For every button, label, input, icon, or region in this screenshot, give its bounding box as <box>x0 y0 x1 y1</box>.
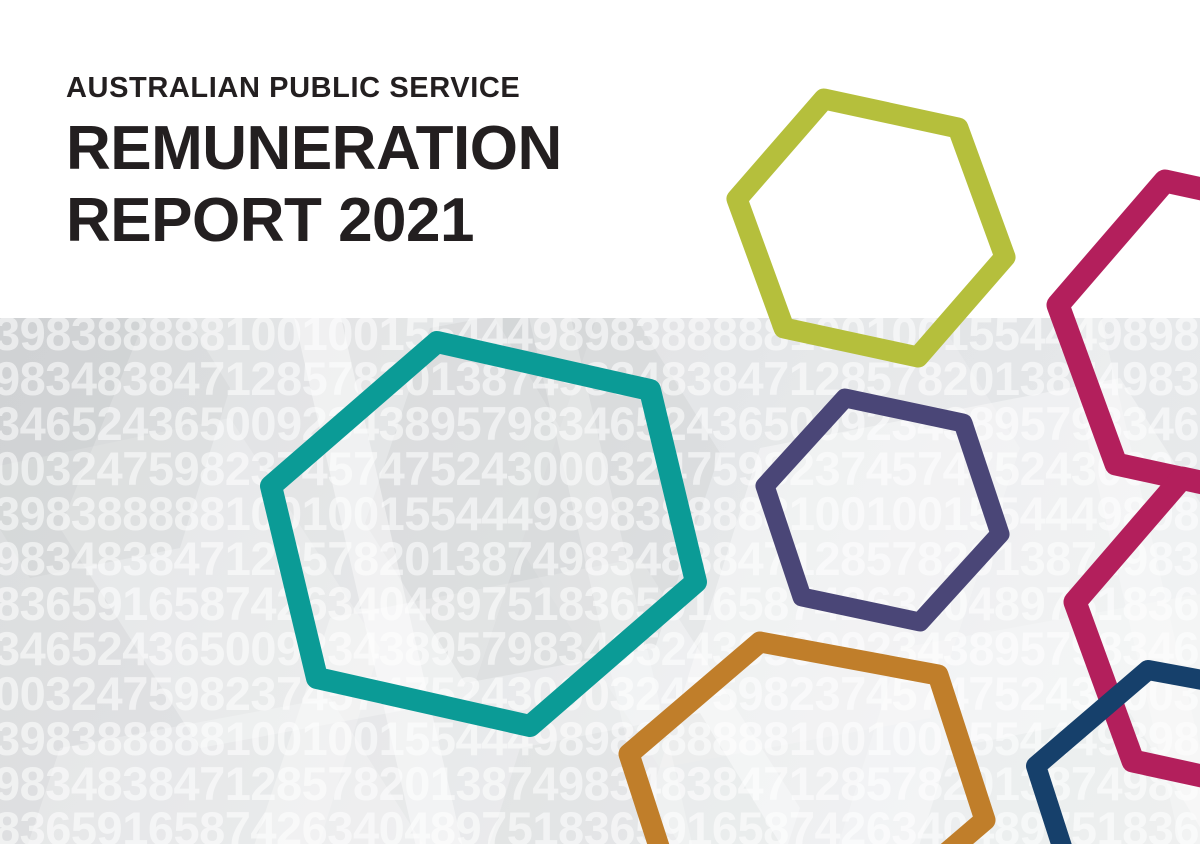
hexagon-crimson-lower-icon <box>1075 478 1200 797</box>
hexagon-navy-icon <box>1036 670 1200 844</box>
report-cover-page: 3983888881001001554449898388888100100155… <box>0 0 1200 844</box>
kicker-text: AUSTRALIAN PUBLIC SERVICE <box>66 74 562 103</box>
hexagon-olive-icon <box>737 99 1005 357</box>
hexagon-purple-icon <box>765 398 1000 622</box>
hexagon-teal-icon <box>271 342 696 726</box>
hexagon-crimson-icon <box>1058 181 1200 500</box>
title-line-2: REPORT 2021 <box>66 185 562 257</box>
cover-title-block: AUSTRALIAN PUBLIC SERVICE REMUNERATION R… <box>66 74 562 257</box>
hexagon-orange-icon <box>629 642 985 844</box>
title-line-1: REMUNERATION <box>66 113 562 185</box>
page-title: REMUNERATION REPORT 2021 <box>66 113 562 257</box>
